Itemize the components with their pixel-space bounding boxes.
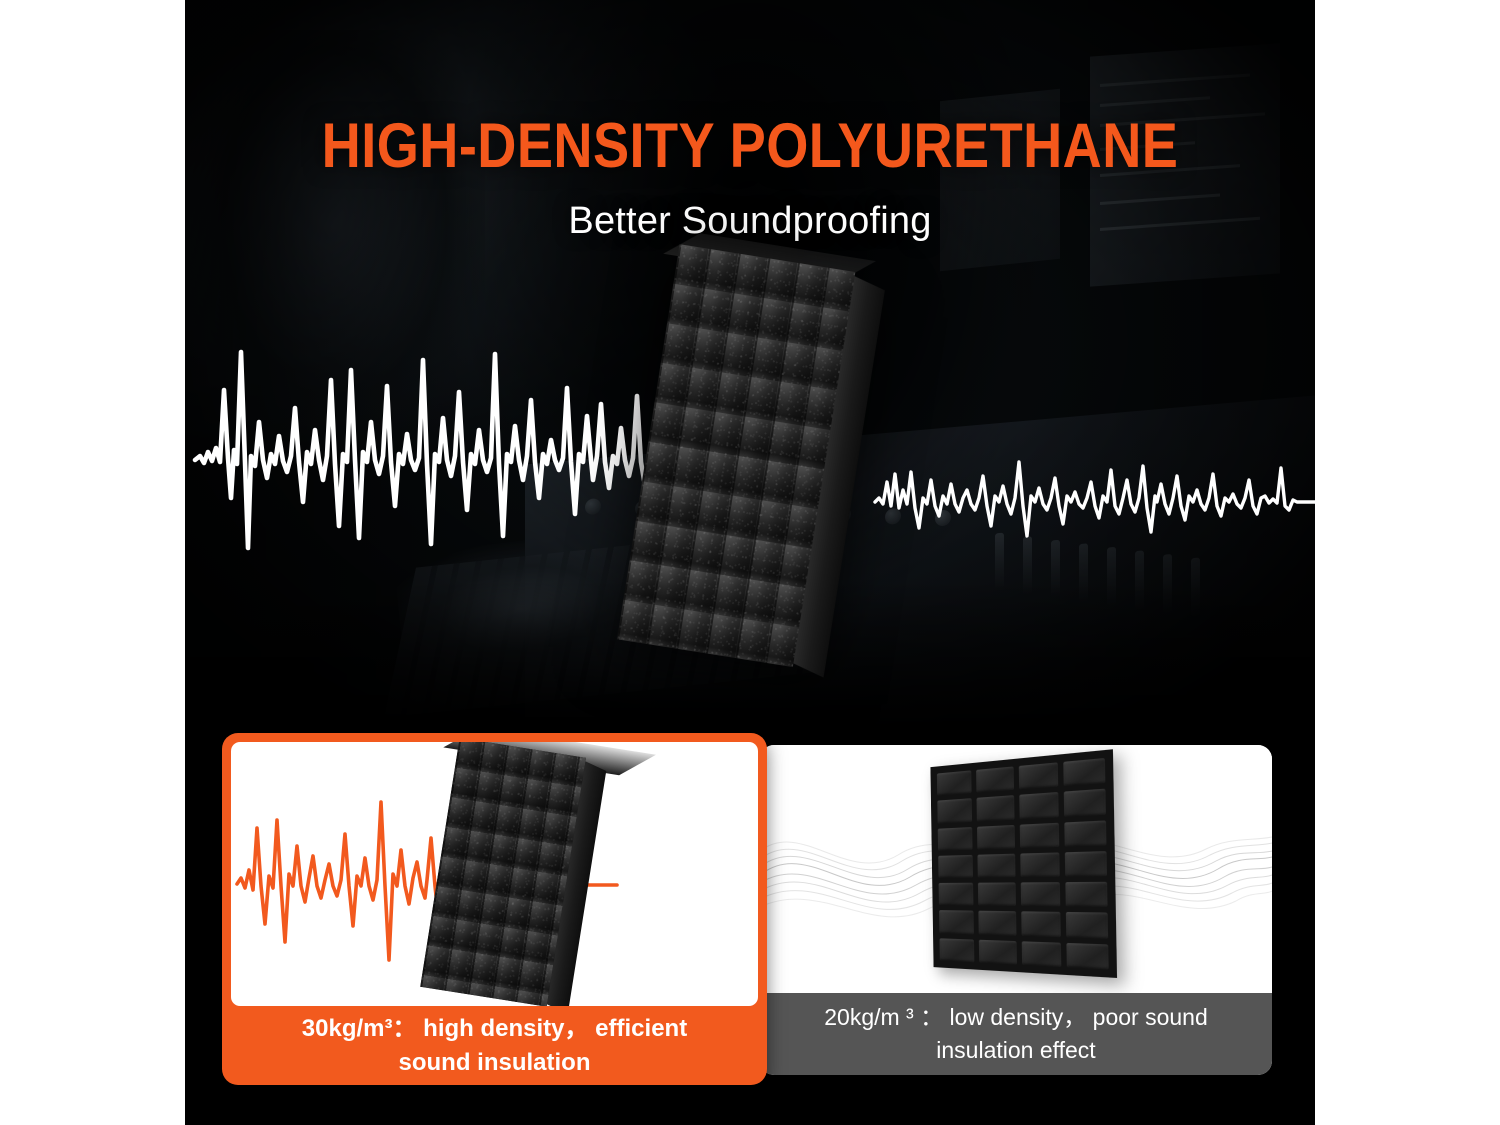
attenuated-waveform-icon: [875, 440, 1315, 560]
low-density-caption-line2: insulation effect: [936, 1037, 1095, 1063]
headline: HIGH-DENSITY POLYURETHANE: [264, 110, 1236, 182]
product-marketing-image: HIGH-DENSITY POLYURETHANE Better Soundpr…: [0, 0, 1500, 1125]
subheadline: Better Soundproofing: [185, 200, 1315, 243]
low-density-caption: 20kg/m ³ ： low density， poor sound insul…: [760, 993, 1272, 1075]
comparison-panel-high-density: 30kg/m³： high density， efficient sound i…: [222, 733, 767, 1085]
high-density-caption-line1: 30kg/m³： high density， efficient: [302, 1015, 687, 1042]
high-density-illustration: [231, 742, 758, 1006]
loud-waveform-icon: [195, 330, 695, 590]
flat-tile-foam-panel-icon: [930, 749, 1117, 978]
high-density-caption: 30kg/m³： high density， efficient sound i…: [222, 1006, 767, 1085]
comparison-panel-low-density: 20kg/m ³ ： low density， poor sound insul…: [760, 745, 1272, 1075]
low-density-caption-line1: 20kg/m ³ ： low density， poor sound: [824, 1004, 1208, 1030]
image-canvas: HIGH-DENSITY POLYURETHANE Better Soundpr…: [185, 0, 1315, 1125]
low-density-illustration: [760, 745, 1272, 993]
high-density-caption-line2: sound insulation: [399, 1049, 591, 1076]
